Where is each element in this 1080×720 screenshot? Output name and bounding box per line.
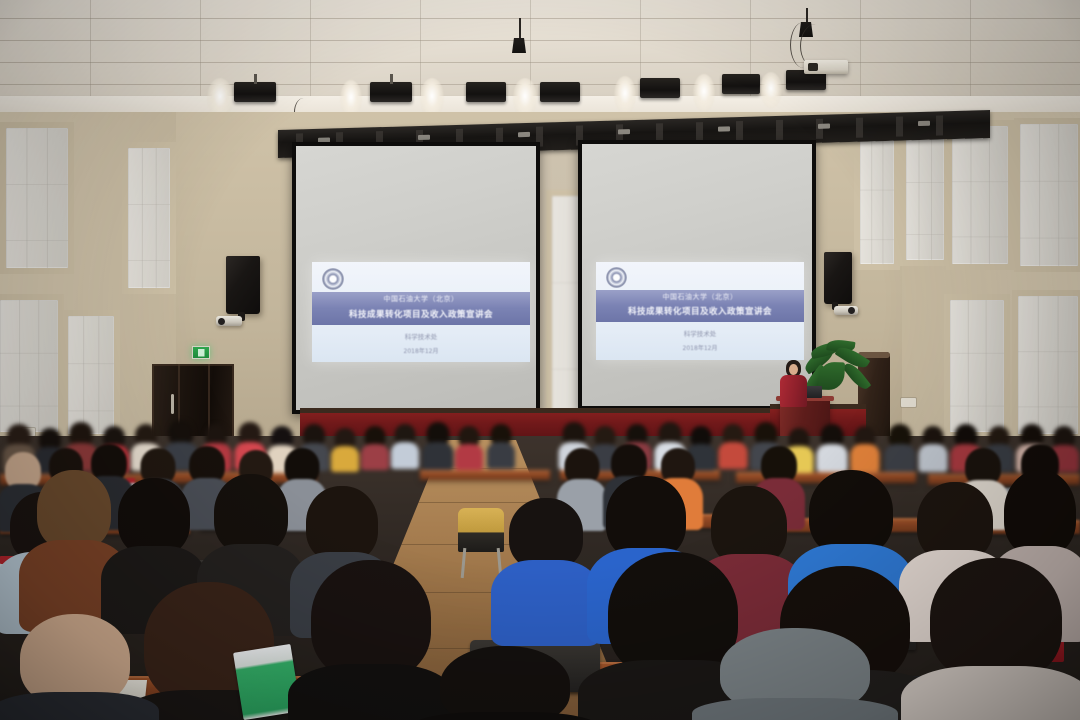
- slide-date-text: 2018年12月: [596, 344, 804, 353]
- acoustic-panel: [950, 300, 1004, 432]
- acoustic-panel: [6, 128, 68, 268]
- university-emblem-icon: [322, 268, 344, 290]
- audience-person: [488, 424, 514, 468]
- slide-date-text: 2018年12月: [312, 347, 530, 356]
- audience-person-foreground: [700, 628, 890, 720]
- stage-light: [234, 82, 276, 102]
- presenter-jacket: [780, 375, 807, 407]
- slide-left: 中国石油大学（北京） 科技成果转化项目及收入政策宣讲会 科学技术处 2018年1…: [312, 262, 530, 362]
- acoustic-panel: [0, 300, 58, 432]
- stage-light: [466, 82, 506, 102]
- stage-light: [370, 82, 412, 102]
- audience-person: [456, 426, 482, 468]
- lecture-hall-photo: 中国石油大学（北京） 科技成果转化项目及收入政策宣讲会 科学技术处 2018年1…: [0, 0, 1080, 720]
- slide-header-text: 中国石油大学（北京）: [312, 294, 530, 305]
- acoustic-panel: [128, 148, 170, 288]
- acoustic-panel: [1018, 296, 1078, 434]
- stage-light: [640, 78, 680, 98]
- stage-light: [540, 82, 580, 102]
- screen-surface: 中国石油大学（北京） 科技成果转化项目及收入政策宣讲会 科学技术处 2018年1…: [296, 146, 536, 410]
- acoustic-panel: [952, 126, 1008, 264]
- wall-speaker-right: [824, 252, 852, 304]
- university-emblem-icon: [606, 267, 627, 288]
- audience-person-foreground: [912, 558, 1080, 720]
- camera-lens-icon: [848, 307, 855, 314]
- camera-lens-icon: [218, 318, 225, 325]
- wall-speaker-left: [226, 256, 260, 314]
- desk: [420, 470, 550, 480]
- stage-light-flare: [614, 76, 636, 114]
- exit-sign: [192, 346, 210, 359]
- pendant-lamp-icon: [512, 38, 526, 53]
- audience-person: [392, 424, 418, 468]
- acoustic-panel: [1020, 124, 1078, 266]
- audience-person: [362, 426, 388, 468]
- slide-header-text: 中国石油大学（北京）: [596, 292, 804, 303]
- audience-person: [424, 422, 452, 468]
- presenter: [778, 360, 808, 406]
- security-camera-left: [216, 316, 242, 326]
- audience-person: [852, 426, 878, 470]
- stage-light-yoke: [390, 74, 393, 84]
- audience-person: [818, 424, 846, 470]
- slide-subtitle-text: 科学技术处: [596, 329, 804, 339]
- audience-person-foreground: [420, 646, 590, 720]
- acoustic-panel: [906, 130, 944, 260]
- audience-person: [498, 498, 594, 624]
- audience-person: [886, 424, 914, 470]
- stage-light-yoke: [254, 74, 257, 84]
- acoustic-panel: [68, 316, 114, 434]
- audience-person: [720, 424, 746, 468]
- pendant-lamp-stem: [519, 18, 521, 40]
- stage-light: [722, 74, 760, 94]
- audience-person: [920, 426, 946, 470]
- projection-screen-left: 中国石油大学（北京） 科技成果转化项目及收入政策宣讲会 科学技术处 2018年1…: [292, 142, 540, 414]
- audience-person-foreground: [0, 614, 150, 720]
- stage-light-flare: [693, 74, 715, 112]
- slide-right: 中国石油大学（北京） 科技成果转化项目及收入政策宣讲会 科学技术处 2018年1…: [596, 262, 804, 360]
- slide-subtitle-text: 科学技术处: [312, 332, 530, 342]
- stage-light-flare: [760, 72, 782, 108]
- security-camera-right: [834, 306, 858, 315]
- wall-outlet: [901, 398, 916, 407]
- projector-lens-icon: [808, 63, 818, 71]
- slide-title-text: 科技成果转化项目及收入政策宣讲会: [596, 306, 804, 319]
- acoustic-panel: [860, 140, 894, 264]
- audience-person: [332, 428, 358, 468]
- presenter-face: [789, 364, 798, 375]
- slide-title-text: 科技成果转化项目及收入政策宣讲会: [312, 309, 530, 322]
- ceiling-projector: [804, 60, 848, 74]
